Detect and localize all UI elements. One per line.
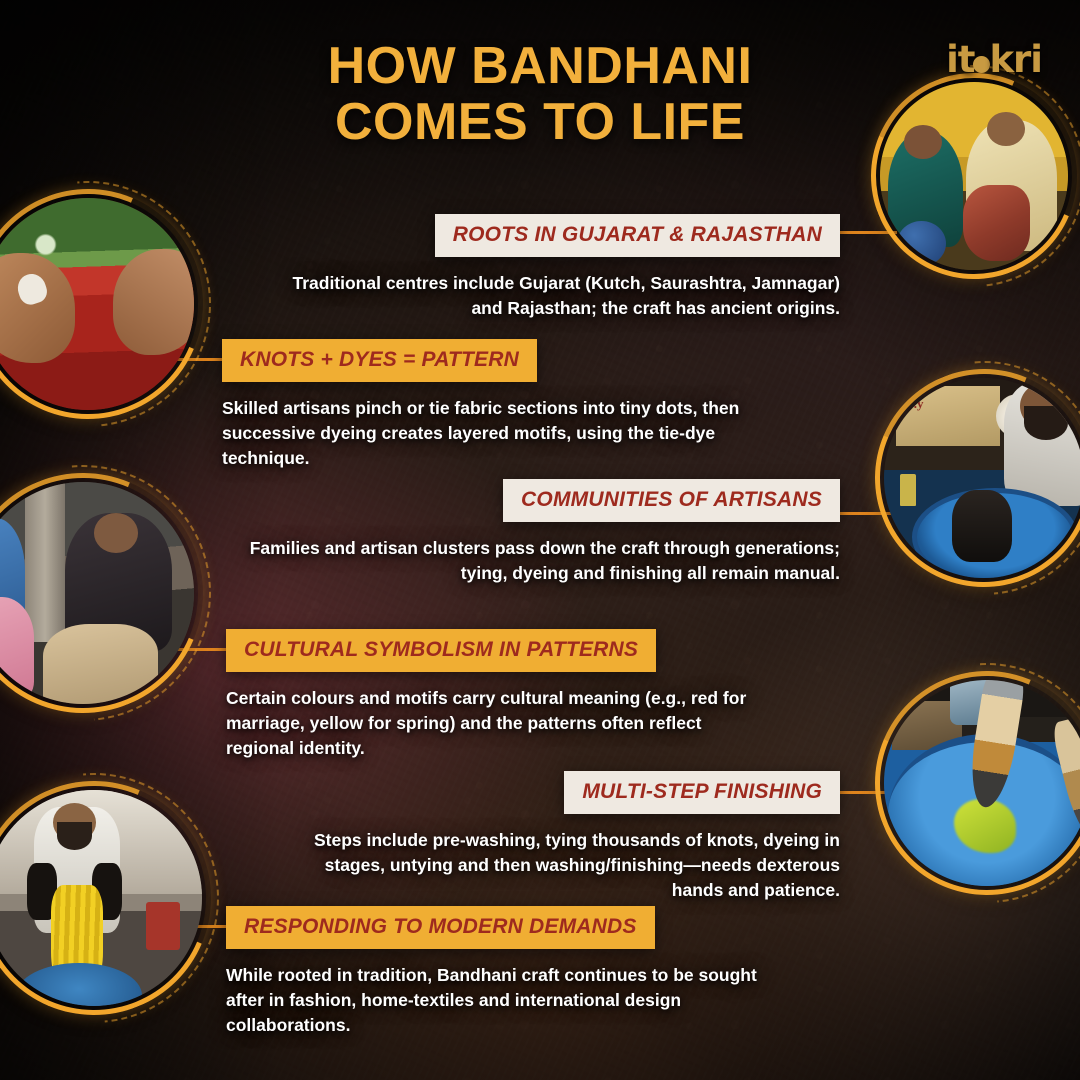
section-communities: COMMUNITIES OF ARTISANS Families and art… (240, 479, 840, 586)
section-body-finishing: Steps include pre-washing, tying thousan… (310, 828, 840, 903)
section-banner-roots[interactable]: ROOTS IN GUJARAT & RAJASTHAN (435, 214, 840, 257)
section-banner-modern-demands[interactable]: RESPONDING TO MODERN DEMANDS (226, 906, 655, 949)
photo-yellow-skein (0, 790, 202, 1006)
page-title: HOW BANDHANI COMES TO LIFE (0, 38, 1080, 150)
logo-dot-icon (973, 56, 990, 73)
page-title-line-2: COMES TO LIFE (0, 94, 1080, 150)
section-banner-knots-dyes[interactable]: KNOTS + DYES = PATTERN (222, 339, 537, 382)
photo-hands-tying-red (0, 198, 194, 410)
section-body-knots-dyes: Skilled artisans pinch or tie fabric sec… (222, 396, 762, 471)
section-roots: ROOTS IN GUJARAT & RAJASTHAN Traditional… (264, 214, 840, 321)
logo-text-post: kri (989, 38, 1042, 81)
section-symbolism: CULTURAL SYMBOLISM IN PATTERNS Certain c… (226, 629, 771, 761)
section-banner-symbolism[interactable]: CULTURAL SYMBOLISM IN PATTERNS (226, 629, 656, 672)
section-knots-dyes: KNOTS + DYES = PATTERN Skilled artisans … (222, 339, 762, 471)
section-banner-communities[interactable]: COMMUNITIES OF ARTISANS (503, 479, 840, 522)
section-body-symbolism: Certain colours and motifs carry cultura… (226, 686, 771, 761)
section-body-roots: Traditional centres include Gujarat (Kut… (264, 271, 840, 321)
photo-indigo-vat (884, 680, 1080, 886)
page-title-line-1: HOW BANDHANI (0, 38, 1080, 94)
section-body-communities: Families and artisan clusters pass down … (240, 536, 840, 586)
section-body-modern-demands: While rooted in tradition, Bandhani craf… (226, 963, 786, 1038)
infographic-canvas: HOW BANDHANI COMES TO LIFE itkri (0, 0, 1080, 1080)
section-finishing: MULTI-STEP FINISHING Steps include pre-w… (310, 771, 840, 903)
section-modern-demands: RESPONDING TO MODERN DEMANDS While roote… (226, 906, 786, 1038)
photo-dyer-blue-vat: y.y (884, 378, 1080, 578)
itokri-logo[interactable]: itkri (946, 38, 1042, 81)
photo-artisan-lady (0, 482, 194, 704)
section-banner-finishing[interactable]: MULTI-STEP FINISHING (564, 771, 840, 814)
logo-text-pre: it (946, 38, 974, 81)
